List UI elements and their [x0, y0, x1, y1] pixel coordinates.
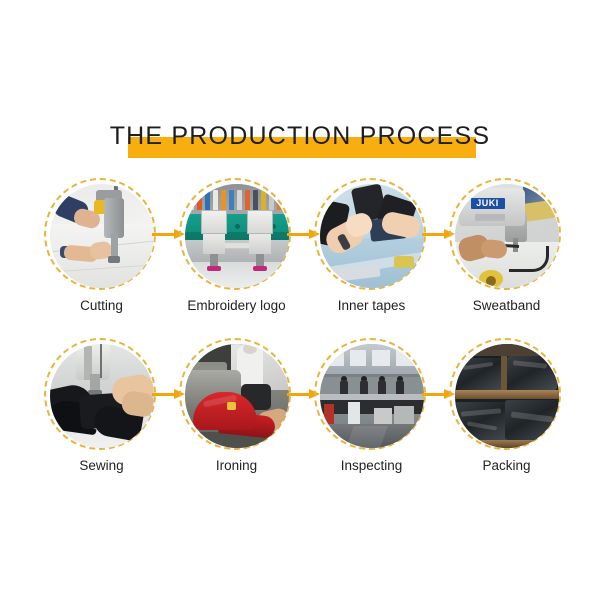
- packing-circle[interactable]: [449, 338, 565, 454]
- process-step-inner-tapes[interactable]: Inner tapes: [304, 178, 439, 328]
- page-header: THE PRODUCTION PROCESS: [0, 112, 600, 162]
- step-label-packing: Packing: [439, 458, 574, 473]
- embroidery-photo: [185, 184, 289, 288]
- inspecting-circle[interactable]: [314, 338, 430, 454]
- process-step-ironing[interactable]: Ironing: [169, 338, 304, 488]
- process-step-sweatband[interactable]: JUKI Sweatband: [439, 178, 574, 328]
- cutting-circle[interactable]: [44, 178, 160, 294]
- process-step-embroidery-logo[interactable]: Embroidery logo: [169, 178, 304, 328]
- cutting-photo: [50, 184, 154, 288]
- step-label-inner-tapes: Inner tapes: [304, 298, 439, 313]
- sewing-circle[interactable]: [44, 338, 160, 454]
- page-title: THE PRODUCTION PROCESS: [0, 122, 600, 151]
- process-row-bottom: Sewing Ironing: [0, 338, 600, 488]
- inner-tapes-circle[interactable]: [314, 178, 430, 294]
- process-step-packing[interactable]: Packing: [439, 338, 574, 488]
- step-label-sewing: Sewing: [34, 458, 169, 473]
- sweatband-photo: JUKI: [455, 184, 559, 288]
- juki-brand-text: JUKI: [471, 197, 505, 209]
- process-step-inspecting[interactable]: Inspecting: [304, 338, 439, 488]
- ironing-photo: [185, 344, 289, 448]
- step-label-inspecting: Inspecting: [304, 458, 439, 473]
- embroidery-circle[interactable]: [179, 178, 295, 294]
- inner-tapes-photo: [320, 184, 424, 288]
- step-label-ironing: Ironing: [169, 458, 304, 473]
- process-row-top: Cutting: [0, 178, 600, 328]
- process-step-sewing[interactable]: Sewing: [34, 338, 169, 488]
- inspecting-photo: [320, 344, 424, 448]
- step-label-sweatband: Sweatband: [439, 298, 574, 313]
- packing-photo: [455, 344, 559, 448]
- sweatband-circle[interactable]: JUKI: [449, 178, 565, 294]
- ironing-circle[interactable]: [179, 338, 295, 454]
- step-label-cutting: Cutting: [34, 298, 169, 313]
- sewing-photo: [50, 344, 154, 448]
- step-label-embroidery-logo: Embroidery logo: [169, 298, 304, 313]
- process-step-cutting[interactable]: Cutting: [34, 178, 169, 328]
